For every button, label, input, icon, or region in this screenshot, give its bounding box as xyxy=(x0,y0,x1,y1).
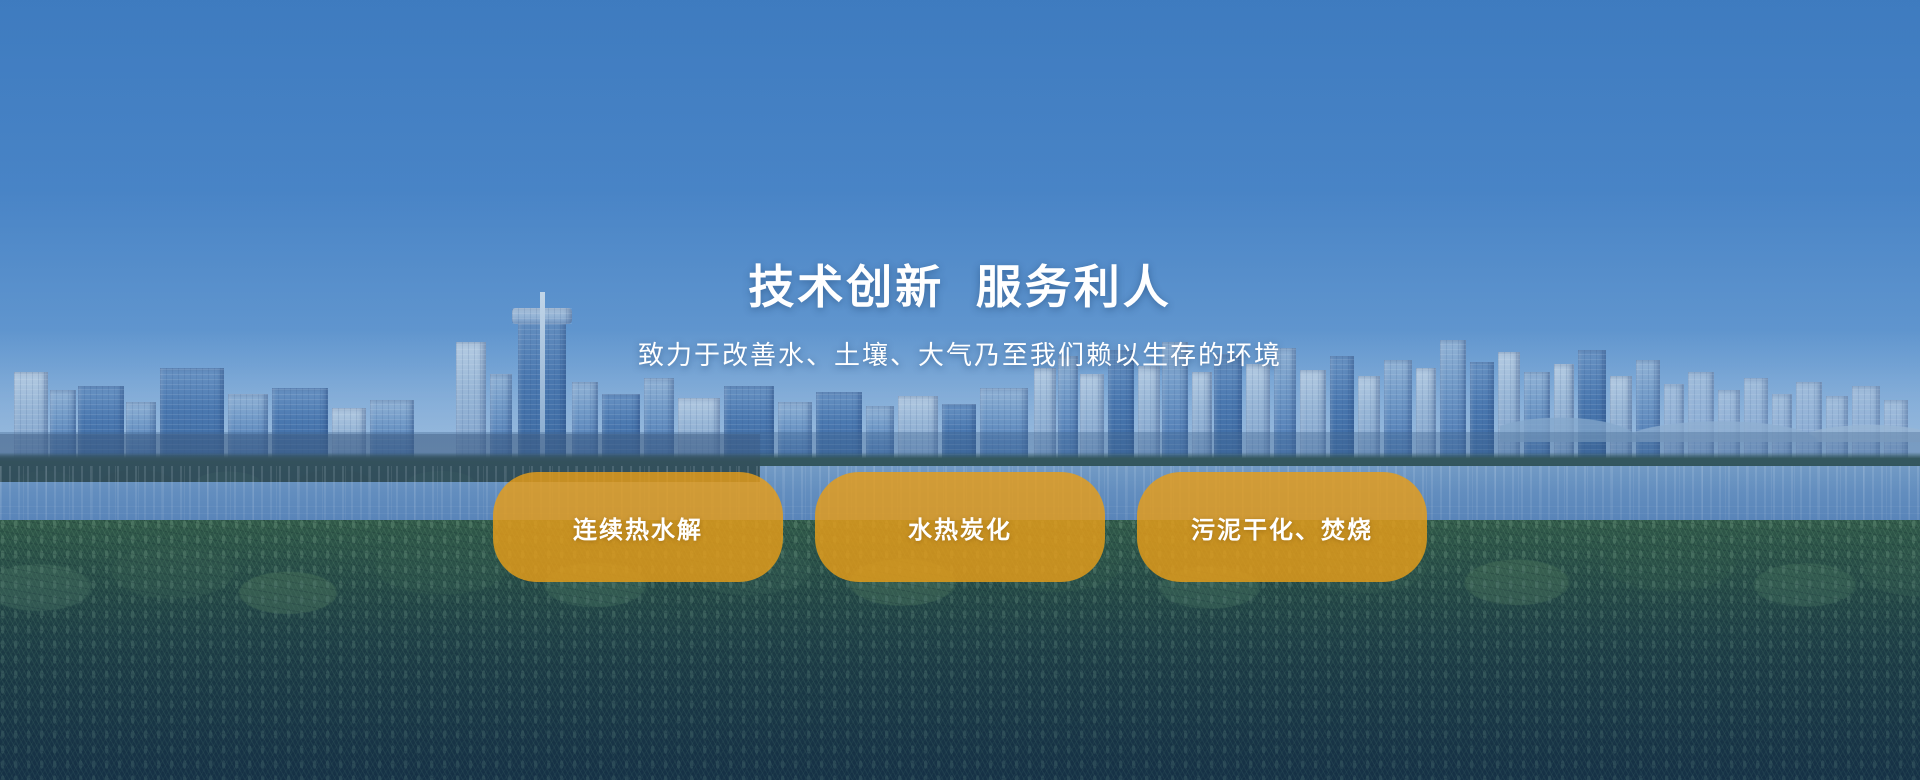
cta-button-hydrothermal-carbonization[interactable]: 水热炭化 xyxy=(815,472,1105,582)
cta-button-sludge-drying-incineration[interactable]: 污泥干化、焚烧 xyxy=(1137,472,1427,582)
hero-banner: 技术创新 服务利人 致力于改善水、土壤、大气乃至我们赖以生存的环境 连续热水解 … xyxy=(0,0,1920,780)
cta-button-continuous-thermal-hydrolysis[interactable]: 连续热水解 xyxy=(493,472,783,582)
cta-button-row: 连续热水解 水热炭化 污泥干化、焚烧 xyxy=(0,472,1920,582)
